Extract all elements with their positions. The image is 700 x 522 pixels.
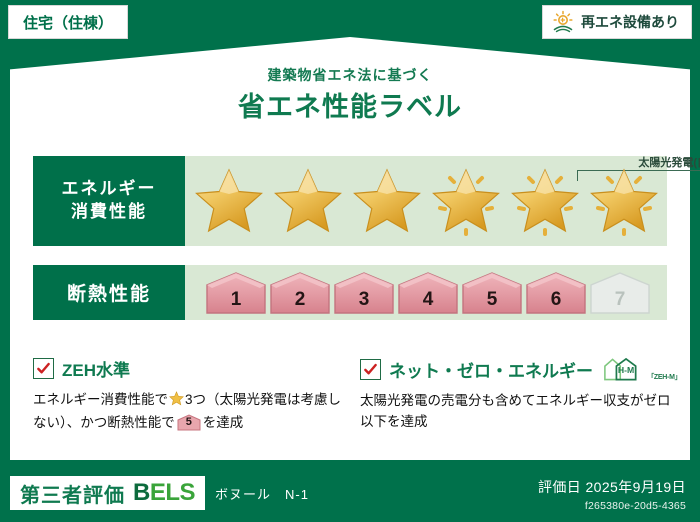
footer-left: 第三者評価 BELS ボヌール N-1 bbox=[10, 476, 309, 510]
energy-row-label-line2: 消費性能 bbox=[71, 201, 147, 224]
evaluation-date-value: 2025年9月19日 bbox=[585, 479, 686, 495]
building-type-tag: 住宅（住棟） bbox=[8, 5, 128, 39]
label-title: 省エネ性能ラベル bbox=[0, 85, 700, 124]
zeh-text-d: を達成 bbox=[203, 415, 244, 430]
renewable-equipment-badge: 再エネ設備あり bbox=[542, 5, 692, 39]
insulation-row-label: 断熱性能 bbox=[33, 265, 185, 320]
evaluation-date: 評価日 2025年9月19日 bbox=[538, 477, 686, 497]
zeh-criteria-body: エネルギー消費性能で3つ（太陽光発電は考慮しない）、かつ断熱性能で5を達成 bbox=[33, 390, 343, 434]
insulation-grade-block: 7 bbox=[589, 271, 651, 315]
energy-row-label-line1: エネルギー bbox=[62, 178, 157, 201]
insulation-grade-block: 4 bbox=[397, 271, 459, 315]
star-icon-solar bbox=[507, 164, 583, 238]
netzero-criteria-header: ネット・ゼロ・エネルギー H-M 「ZEH-M」 bbox=[360, 356, 680, 382]
insulation-grade-block: 3 bbox=[333, 271, 395, 315]
zeh-criteria-title: ZEH水準 bbox=[62, 356, 130, 381]
star-rating bbox=[185, 164, 662, 238]
svg-text:H-M: H-M bbox=[618, 365, 634, 375]
zeh-criteria-header: ZEH水準 bbox=[33, 356, 343, 381]
insulation-grade-block: 1 bbox=[205, 271, 267, 315]
star-icon-solar bbox=[428, 164, 504, 238]
inline-grade-value: 5 bbox=[177, 414, 201, 431]
zeh-text-a: エネルギー消費性能で bbox=[33, 392, 168, 407]
netzero-criteria: ネット・ゼロ・エネルギー H-M 「ZEH-M」 太陽光発電の売電分も含めてエネ… bbox=[360, 356, 680, 433]
inline-grade-badge: 5 bbox=[177, 414, 201, 431]
netzero-criteria-body: 太陽光発電の売電分も含めてエネルギー収支がゼロ以下を達成 bbox=[360, 391, 680, 433]
bels-mark: 第三者評価 BELS bbox=[10, 476, 205, 510]
insulation-grade-block: 6 bbox=[525, 271, 587, 315]
zeh-text-b: 3つ（太陽光発電 bbox=[185, 392, 287, 407]
netzero-criteria-title: ネット・ゼロ・エネルギー bbox=[389, 357, 593, 382]
star-icon-solar bbox=[586, 164, 662, 238]
insulation-grade-value: 2 bbox=[269, 289, 331, 311]
evaluation-date-label: 評価日 bbox=[538, 479, 581, 495]
energy-performance-row: エネルギー 消費性能 太陽光発電(自家消費)分 bbox=[33, 156, 667, 246]
energy-stars-panel: 太陽光発電(自家消費)分 bbox=[185, 156, 667, 246]
star-icon bbox=[270, 164, 346, 238]
sun-icon bbox=[551, 10, 575, 34]
insulation-grade-value: 4 bbox=[397, 289, 459, 311]
third-party-label: 第三者評価 bbox=[20, 479, 125, 508]
insulation-grade-value: 7 bbox=[589, 289, 651, 311]
evaluation-id: f265380e-20d5-4365 bbox=[538, 500, 686, 512]
inline-star-icon bbox=[169, 391, 184, 413]
zeh-m-logo: H-M 「ZEH-M」 bbox=[602, 356, 680, 382]
renewable-badge-label: 再エネ設備あり bbox=[581, 12, 679, 32]
insulation-grade-block: 2 bbox=[269, 271, 331, 315]
zeh-criteria: ZEH水準 エネルギー消費性能で3つ（太陽光発電は考慮しない）、かつ断熱性能で5… bbox=[33, 356, 343, 434]
check-icon bbox=[33, 358, 54, 379]
insulation-grade-value: 1 bbox=[205, 289, 267, 311]
insulation-blocks-panel: 1234567 bbox=[185, 265, 667, 320]
insulation-grade-value: 3 bbox=[333, 289, 395, 311]
insulation-grade-value: 6 bbox=[525, 289, 587, 311]
insulation-grade-block: 5 bbox=[461, 271, 523, 315]
insulation-grade-scale: 1234567 bbox=[185, 271, 651, 315]
energy-performance-label: 住宅（住棟） 再エネ設備あり 建築物省エネ法に基づく 省エネ性能ラベル bbox=[0, 0, 700, 522]
star-icon bbox=[349, 164, 425, 238]
zeh-m-logo-caption: 「ZEH-M」 bbox=[647, 372, 680, 382]
star-icon bbox=[191, 164, 267, 238]
insulation-performance-row: 断熱性能 1234567 bbox=[33, 265, 667, 320]
bels-wordmark: BELS bbox=[133, 479, 195, 507]
check-icon bbox=[360, 359, 381, 380]
bels-b: B bbox=[133, 479, 150, 506]
label-subtitle: 建築物省エネ法に基づく bbox=[0, 65, 700, 85]
insulation-grade-value: 5 bbox=[461, 289, 523, 311]
energy-row-label: エネルギー 消費性能 bbox=[33, 156, 185, 246]
footer-right: 評価日 2025年9月19日 f265380e-20d5-4365 bbox=[538, 477, 686, 512]
bels-els: ELS bbox=[150, 479, 195, 506]
building-name: ボヌール N-1 bbox=[215, 484, 309, 503]
